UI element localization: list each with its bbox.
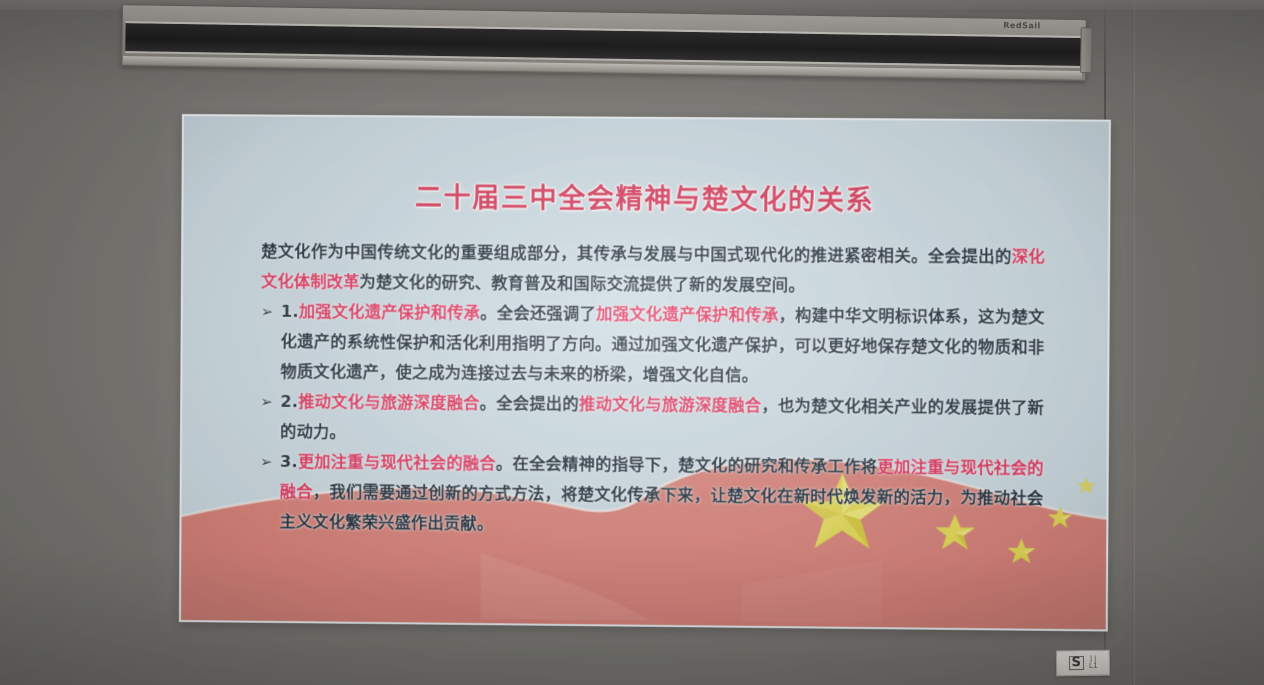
valance-brand-label: RedSail	[1003, 21, 1041, 31]
bullet-1-highlight: 加强文化遗产保护和传承	[596, 304, 779, 324]
projected-slide: 二十届三中全会精神与楚文化的关系 楚文化作为中国传统文化的重要组成部分，其传承与…	[179, 114, 1111, 631]
bullet-2-highlight: 推动文化与旅游深度融合	[579, 394, 761, 415]
bullet-2-number: 2.	[280, 392, 298, 411]
bullet-2-text: 2.推动文化与旅游深度融合。全会提出的推动文化与旅游深度融合，也为楚文化相关产业…	[280, 387, 1044, 454]
room-scene: RedSail	[0, 0, 1264, 685]
sticker-code: || L1	[1089, 656, 1098, 670]
bullet-2-sep: 。全会提出的	[480, 393, 579, 413]
arrow-bullet-icon: ➢	[260, 387, 280, 417]
sticker-code-line2: L1	[1089, 662, 1098, 670]
bullet-3-sep: 。在全会精神的指导下，楚文化的研究和传承工作将	[496, 454, 878, 476]
bullet-1-number: 1.	[281, 302, 299, 321]
slide-body: 楚文化作为中国传统文化的重要组成部分，其传承与发展与中国式现代化的推进紧密相关。…	[259, 237, 1045, 545]
bullet-point-2: ➢ 2.推动文化与旅游深度融合。全会提出的推动文化与旅游深度融合，也为楚文化相关…	[260, 387, 1044, 454]
arrow-bullet-icon: ➢	[260, 447, 280, 477]
intro-part1: 楚文化作为中国传统文化的重要组成部分，其传承与发展与中国式现代化的推进紧密相关。…	[261, 242, 1012, 266]
bullet-point-3: ➢ 3.更加注重与现代社会的融合。在全会精神的指导下，楚文化的研究和传承工作将更…	[259, 447, 1043, 545]
intro-part2: 为楚文化的研究、教育普及和国际交流提供了新的发展空间。	[359, 272, 804, 294]
intro-paragraph: 楚文化作为中国传统文化的重要组成部分，其传承与发展与中国式现代化的推进紧密相关。…	[261, 237, 1045, 303]
slide-canvas: 二十届三中全会精神与楚文化的关系 楚文化作为中国传统文化的重要组成部分，其传承与…	[179, 114, 1111, 631]
bullet-3-body: ，我们需要通过创新的方式方法，将楚文化传承下来，让楚文化在新时代焕发新的活力，为…	[280, 482, 1044, 533]
bullet-3-number: 3.	[280, 452, 298, 471]
bullet-1-text: 1.加强文化遗产保护和传承。全会还强调了加强文化遗产保护和传承，构建中华文明标识…	[280, 297, 1044, 393]
bullet-point-1: ➢ 1.加强文化遗产保护和传承。全会还强调了加强文化遗产保护和传承，构建中华文明…	[260, 297, 1044, 394]
bullet-3-text: 3.更加注重与现代社会的融合。在全会精神的指导下，楚文化的研究和传承工作将更加注…	[279, 447, 1043, 544]
bullet-1-heading: 加强文化遗产保护和传承	[299, 302, 481, 322]
bullet-2-heading: 推动文化与旅游深度融合	[298, 392, 480, 413]
arrow-bullet-icon: ➢	[261, 297, 281, 327]
slide-title: 二十届三中全会精神与楚文化的关系	[183, 174, 1108, 219]
sticker-logo-icon: S	[1068, 656, 1084, 670]
wall-seam-far-right	[1134, 0, 1135, 685]
wall-label-sticker: S || L1	[1056, 650, 1110, 677]
bullet-3-heading: 更加注重与现代社会的融合	[298, 452, 496, 473]
bullet-1-sep: 。全会还强调了	[480, 303, 596, 323]
valance-end-cap	[1080, 27, 1093, 73]
